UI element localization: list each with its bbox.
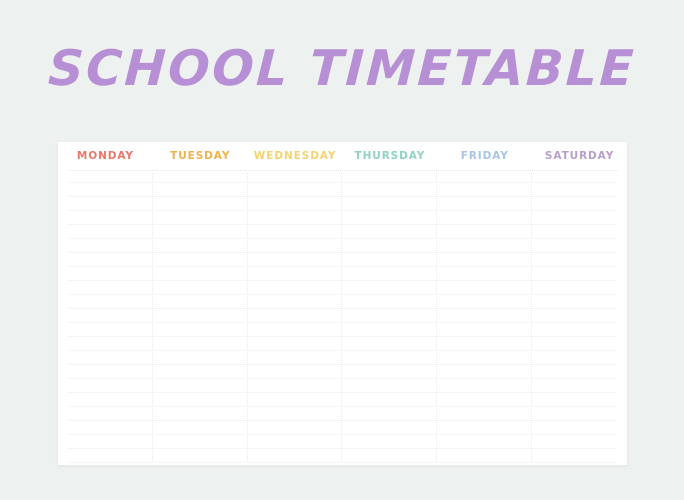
timetable-cell[interactable] <box>153 297 248 339</box>
day-header-tuesday[interactable]: TUESDAY <box>153 151 248 162</box>
timetable-cell[interactable] <box>248 423 343 465</box>
timetable-cell[interactable] <box>342 423 437 465</box>
timetable-cell[interactable] <box>58 381 153 423</box>
timetable-cell[interactable] <box>248 339 343 381</box>
timetable-cell[interactable] <box>58 339 153 381</box>
timetable-cell[interactable] <box>58 297 153 339</box>
day-header-row: MONDAYTUESDAYWEDNESDAYTHURSDAYFRIDAYSATU… <box>58 142 627 171</box>
timetable-cell[interactable] <box>58 213 153 255</box>
timetable-grid-body <box>58 171 627 465</box>
timetable-cell[interactable] <box>437 339 532 381</box>
day-column-wednesday <box>248 171 343 465</box>
timetable-card: MONDAYTUESDAYWEDNESDAYTHURSDAYFRIDAYSATU… <box>58 142 627 465</box>
timetable-cell[interactable] <box>248 255 343 297</box>
timetable-cell[interactable] <box>437 255 532 297</box>
timetable-cell[interactable] <box>58 255 153 297</box>
day-column-tuesday <box>153 171 248 465</box>
day-column-thursday <box>342 171 437 465</box>
header-divider-rule <box>68 170 617 171</box>
timetable-cell[interactable] <box>153 255 248 297</box>
timetable-cell[interactable] <box>437 297 532 339</box>
timetable-cell[interactable] <box>342 171 437 213</box>
timetable-cell[interactable] <box>248 297 343 339</box>
timetable-cell[interactable] <box>58 423 153 465</box>
timetable-cell[interactable] <box>248 171 343 213</box>
timetable-cell[interactable] <box>532 171 627 213</box>
timetable-cell[interactable] <box>342 255 437 297</box>
timetable-cell[interactable] <box>58 171 153 213</box>
timetable-cell[interactable] <box>153 213 248 255</box>
timetable-cell[interactable] <box>437 171 532 213</box>
day-header-friday[interactable]: FRIDAY <box>437 151 532 162</box>
timetable-cell[interactable] <box>248 381 343 423</box>
timetable-cell[interactable] <box>342 381 437 423</box>
day-header-monday[interactable]: MONDAY <box>58 151 153 162</box>
day-column-friday <box>437 171 532 465</box>
timetable-cell[interactable] <box>532 297 627 339</box>
timetable-cell[interactable] <box>532 381 627 423</box>
timetable-cell[interactable] <box>532 423 627 465</box>
day-header-saturday[interactable]: SATURDAY <box>532 151 627 162</box>
timetable-cell[interactable] <box>248 213 343 255</box>
timetable-cell[interactable] <box>153 171 248 213</box>
day-column-monday <box>58 171 153 465</box>
day-header-wednesday[interactable]: WEDNESDAY <box>248 151 343 162</box>
timetable-cell[interactable] <box>532 255 627 297</box>
timetable-cell[interactable] <box>532 339 627 381</box>
timetable-cell[interactable] <box>342 297 437 339</box>
timetable-cell[interactable] <box>153 423 248 465</box>
timetable-cell[interactable] <box>153 381 248 423</box>
timetable-cell[interactable] <box>437 423 532 465</box>
timetable-cell[interactable] <box>342 339 437 381</box>
timetable-cell[interactable] <box>437 381 532 423</box>
day-header-thursday[interactable]: THURSDAY <box>342 151 437 162</box>
timetable-cell[interactable] <box>532 213 627 255</box>
page-title: SCHOOL TIMETABLE <box>0 44 684 93</box>
timetable-cell[interactable] <box>437 213 532 255</box>
timetable-cell[interactable] <box>342 213 437 255</box>
timetable-cells-layer <box>58 171 627 465</box>
timetable-cell[interactable] <box>153 339 248 381</box>
day-column-saturday <box>532 171 627 465</box>
